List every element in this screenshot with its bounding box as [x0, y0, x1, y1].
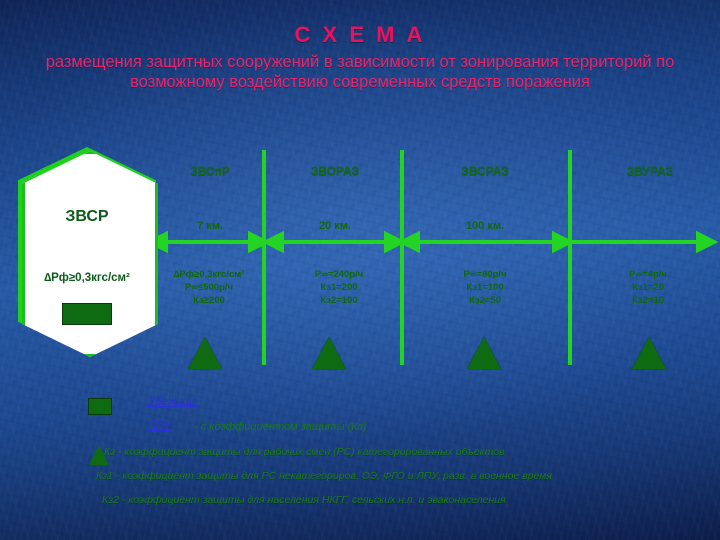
hexagon-badge-label: ЗВСР: [22, 208, 152, 226]
zone-coef-line: Кз1=200: [285, 281, 393, 294]
zone-coef-line: Кз2=100: [285, 294, 393, 307]
pru-marker-4: [632, 337, 666, 369]
shelter-symbol-icon: [62, 303, 112, 325]
zone-header-1: ЗВСпР: [160, 164, 260, 178]
footnote-kz1: Кз1 - коэффициент защиты для РС некатего…: [96, 470, 552, 482]
zone-coef-line: Кз1=20: [592, 281, 704, 294]
pru-marker-2: [312, 337, 346, 369]
page-subtitle: размещения защитных сооружений в зависим…: [22, 52, 698, 92]
legend-label-pru: ПРУ: [148, 420, 171, 432]
zone-coef-line: Кз1=100: [425, 281, 545, 294]
zone-header-3: ЗВСРАЗ: [420, 164, 550, 178]
footnote-kz: Кз - коэффициент защиты для рабочих смен…: [104, 446, 505, 458]
zone-coef-line: Р∞=240р/ч: [285, 268, 393, 281]
zone-coefficients-3: Р∞=80р/ч Кз1=100 Кз2=50: [425, 268, 545, 307]
page-title: С Х Е М А: [22, 22, 698, 48]
title-block: С Х Е М А размещения защитных сооружений…: [22, 22, 698, 92]
zone-coef-line: Р∞≤500р/ч: [155, 281, 263, 294]
zone-coefficients-1: ∆Рф≥0,3кгс/см² Р∞≤500р/ч Кз≥200: [155, 268, 263, 307]
pru-marker-1: [188, 337, 222, 369]
zone-header-2: ЗВОРАЗ: [280, 164, 390, 178]
zone-coef-line: Кз2=10: [592, 294, 704, 307]
zone-coef-line: Кз≥200: [155, 294, 263, 307]
zone-coef-line: ∆Рф≥0,3кгс/см²: [155, 268, 263, 281]
zone-coef-line: Кз2=50: [425, 294, 545, 307]
footnote-kz2: Кз2 - коэффициент защиты для населения Н…: [102, 494, 506, 506]
hexagon-badge-pressure: ∆Рф≥0,3кгс/см²: [16, 272, 158, 284]
zone-divider-1: [262, 150, 266, 365]
zone-divider-2: [400, 150, 404, 365]
zone-divider-3: [568, 150, 572, 365]
zone-header-4: ЗВУРАЗ: [590, 164, 710, 178]
legend-label-shelter: Убежище: [148, 396, 199, 408]
slide-canvas: С Х Е М А размещения защитных сооружений…: [0, 0, 720, 540]
zone-coefficients-4: Р∞=4р/ч Кз1=20 Кз2=10: [592, 268, 704, 307]
zone-coefficients-2: Р∞=240р/ч Кз1=200 Кз2=100: [285, 268, 393, 307]
zone-coef-line: Р∞=80р/ч: [425, 268, 545, 281]
legend-note-pru: - с коэффициентом защиты (Кз): [194, 421, 367, 433]
shelter-symbol-icon: [88, 398, 112, 415]
pru-marker-3: [467, 337, 501, 369]
zone-coef-line: Р∞=4р/ч: [592, 268, 704, 281]
hexagon-badge: [22, 151, 158, 357]
